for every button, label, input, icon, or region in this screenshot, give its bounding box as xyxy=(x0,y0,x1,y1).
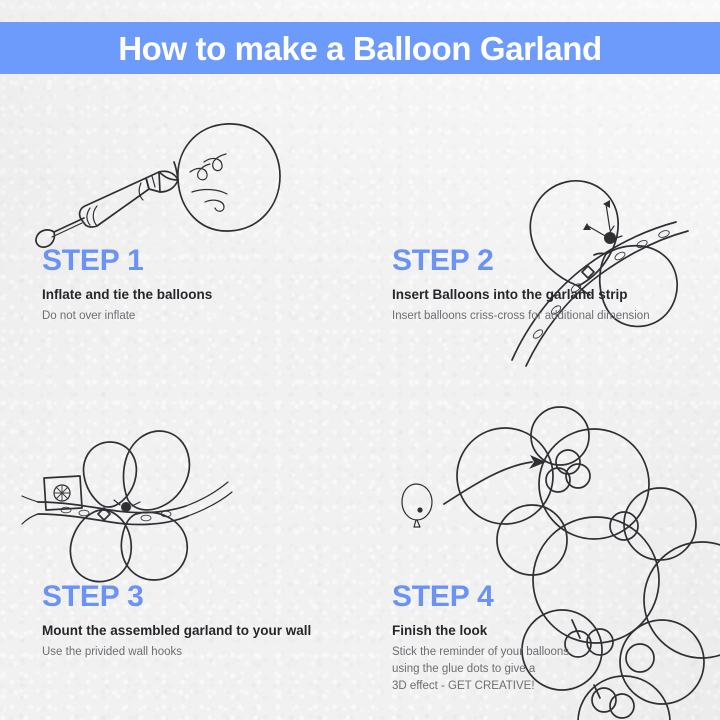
step-2-subtext: Insert balloons criss-cross for addition… xyxy=(392,308,650,325)
step-panel-2: STEP 2 Insert Balloons into the garland … xyxy=(360,88,720,344)
step-4-heading: Finish the look xyxy=(392,623,569,640)
step-1-label: STEP 1 xyxy=(42,246,212,276)
step-panel-3: STEP 3 Mount the assembled garland to yo… xyxy=(0,400,360,720)
title-banner: How to make a Balloon Garland xyxy=(0,22,720,74)
page-title: How to make a Balloon Garland xyxy=(118,32,602,65)
step-3-subtext: Use the privided wall hooks xyxy=(42,644,311,661)
infographic-page: How to make a Balloon Garland xyxy=(0,0,720,720)
step-1-subtext: Do not over inflate xyxy=(42,308,212,325)
step-2-label: STEP 2 xyxy=(392,246,650,276)
step-3-label: STEP 3 xyxy=(42,582,311,612)
step-2-subtext-line-1: Insert balloons criss-cross for addition… xyxy=(392,308,650,325)
hand-pump-inflating-balloon-illustration xyxy=(28,110,298,250)
step-panel-4: STEP 4 Finish the look Stick the reminde… xyxy=(360,400,720,720)
step-1-subtext-line-1: Do not over inflate xyxy=(42,308,212,325)
step-3-text-block: STEP 3 Mount the assembled garland to yo… xyxy=(42,582,311,661)
step-3-subtext-line-1: Use the privided wall hooks xyxy=(42,644,311,661)
step-4-label: STEP 4 xyxy=(392,582,569,612)
step-4-subtext-line-2: using the glue dots to give a xyxy=(392,661,569,678)
step-4-subtext-line-3: 3D effect - GET CREATIVE! xyxy=(392,678,569,695)
balloon-cluster-mounted-on-wall-hook-illustration xyxy=(22,408,242,598)
step-1-text-block: STEP 1 Inflate and tie the balloons Do n… xyxy=(42,246,212,325)
step-4-subtext: Stick the reminder of your balloons usin… xyxy=(392,644,569,695)
step-2-text-block: STEP 2 Insert Balloons into the garland … xyxy=(392,246,650,325)
step-1-heading: Inflate and tie the balloons xyxy=(42,287,212,304)
step-4-text-block: STEP 4 Finish the look Stick the reminde… xyxy=(392,582,569,695)
step-3-heading: Mount the assembled garland to your wall xyxy=(42,623,311,640)
step-panel-1: STEP 1 Inflate and tie the balloons Do n… xyxy=(0,88,360,344)
step-4-subtext-line-1: Stick the reminder of your balloons xyxy=(392,644,569,661)
step-2-heading: Insert Balloons into the garland strip xyxy=(392,287,650,304)
